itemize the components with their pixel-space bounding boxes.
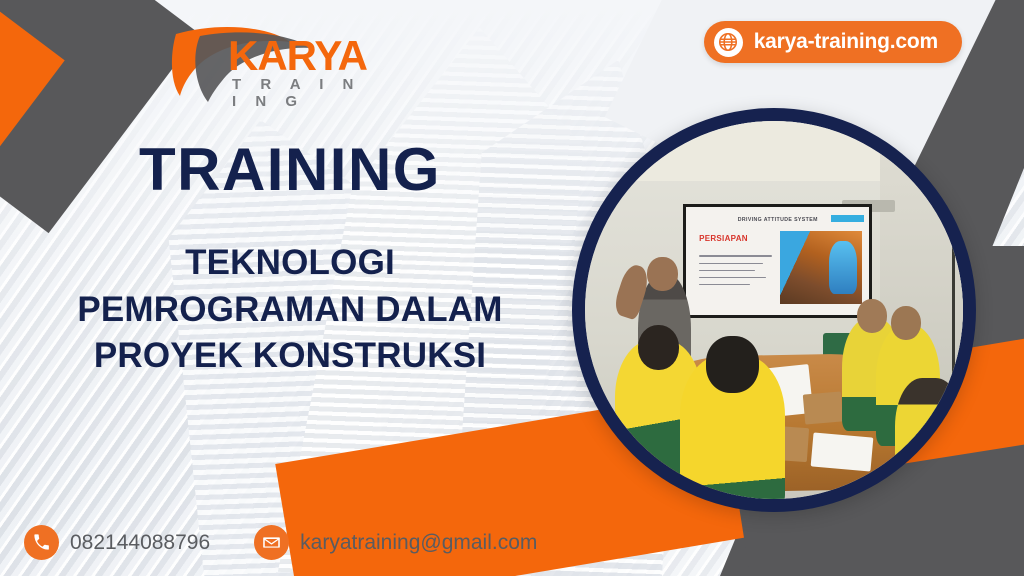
photo-ring-border: DRIVING ATTITUDE SYSTEM PERSIAPAN xyxy=(572,108,976,512)
page-title: TRAINING xyxy=(0,140,580,200)
email-text: karyatraining@gmail.com xyxy=(300,531,537,555)
website-url-text: karya-training.com xyxy=(754,30,938,54)
slide-bullet-lines xyxy=(699,255,772,290)
participant-right-3 xyxy=(895,378,963,499)
contact-email[interactable]: karyatraining@gmail.com xyxy=(254,525,537,560)
headline-line-2: PEMROGRAMAN DALAM xyxy=(0,287,580,334)
website-badge[interactable]: karya-training.com xyxy=(704,21,962,63)
headline-line-3: PROYEK KONSTRUKSI xyxy=(0,333,580,380)
projector-screen: DRIVING ATTITUDE SYSTEM PERSIAPAN xyxy=(686,207,869,314)
svg-text:KARYA: KARYA xyxy=(228,32,368,79)
room-door-frame xyxy=(952,174,955,408)
projector-screen-frame: DRIVING ATTITUDE SYSTEM PERSIAPAN xyxy=(683,204,872,317)
slide-corner-tag xyxy=(831,215,864,223)
logo-tagline: T R A I N I N G xyxy=(232,76,380,110)
headline-block: TRAINING TEKNOLOGI PEMROGRAMAN DALAM PRO… xyxy=(0,140,580,380)
slide-photo-thumbnail xyxy=(780,231,862,304)
headline-line-1: TEKNOLOGI xyxy=(0,240,580,287)
envelope-icon xyxy=(254,525,289,560)
training-classroom-photo: DRIVING ATTITUDE SYSTEM PERSIAPAN xyxy=(585,121,963,499)
brand-logo: KARYA T R A I N I N G xyxy=(140,22,380,102)
contact-phone[interactable]: 082144088796 xyxy=(24,525,210,560)
participant-right-1-head xyxy=(857,299,887,333)
presenter-head xyxy=(647,257,677,291)
table-box-1 xyxy=(803,392,843,425)
phone-icon xyxy=(24,525,59,560)
training-flyer-poster: KARYA T R A I N I N G karya-training.com… xyxy=(0,0,1024,576)
participant-center-head xyxy=(706,336,759,393)
globe-icon xyxy=(714,28,743,57)
contact-bar: 082144088796 karyatraining@gmail.com xyxy=(24,525,537,560)
table-paper-2 xyxy=(810,432,873,471)
slide-heading-text: PERSIAPAN xyxy=(699,234,748,243)
phone-number-text: 082144088796 xyxy=(70,531,210,555)
headline-subtitle: TEKNOLOGI PEMROGRAMAN DALAM PROYEK KONST… xyxy=(0,240,580,380)
